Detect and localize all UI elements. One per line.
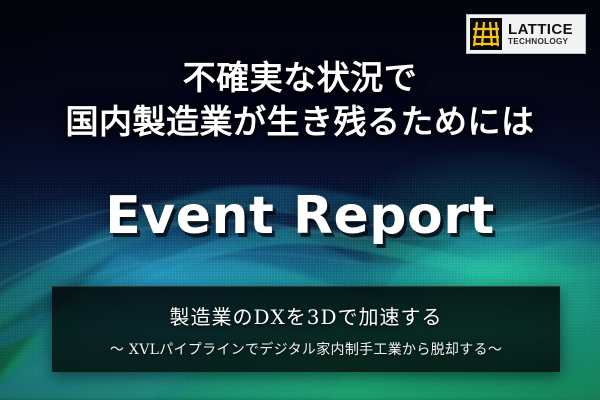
logo-wordmark: LATTICE TECHNOLOGY bbox=[508, 22, 573, 46]
headline: 不確実な状況で 国内製造業が生き残るためには bbox=[0, 56, 600, 143]
logo-name: LATTICE bbox=[508, 22, 573, 37]
headline-line-2: 国内製造業が生き残るためには bbox=[0, 100, 600, 144]
headline-line-1: 不確実な状況で bbox=[0, 56, 600, 100]
subtitle-sub: 〜 XVLパイプラインでデジタル家内制手工業から脱却する〜 bbox=[110, 339, 502, 359]
logo-subtitle: TECHNOLOGY bbox=[508, 38, 573, 46]
event-report-banner: LATTICE TECHNOLOGY 不確実な状況で 国内製造業が生き残るために… bbox=[0, 0, 600, 400]
main-title: Event Report bbox=[0, 186, 600, 246]
lattice-technology-logo: LATTICE TECHNOLOGY bbox=[466, 14, 586, 54]
subtitle-panel: 製造業のDXを3Dで加速する 〜 XVLパイプラインでデジタル家内制手工業から脱… bbox=[52, 286, 560, 372]
subtitle-main: 製造業のDXを3Dで加速する bbox=[169, 301, 442, 330]
lattice-grid-icon bbox=[470, 18, 502, 50]
